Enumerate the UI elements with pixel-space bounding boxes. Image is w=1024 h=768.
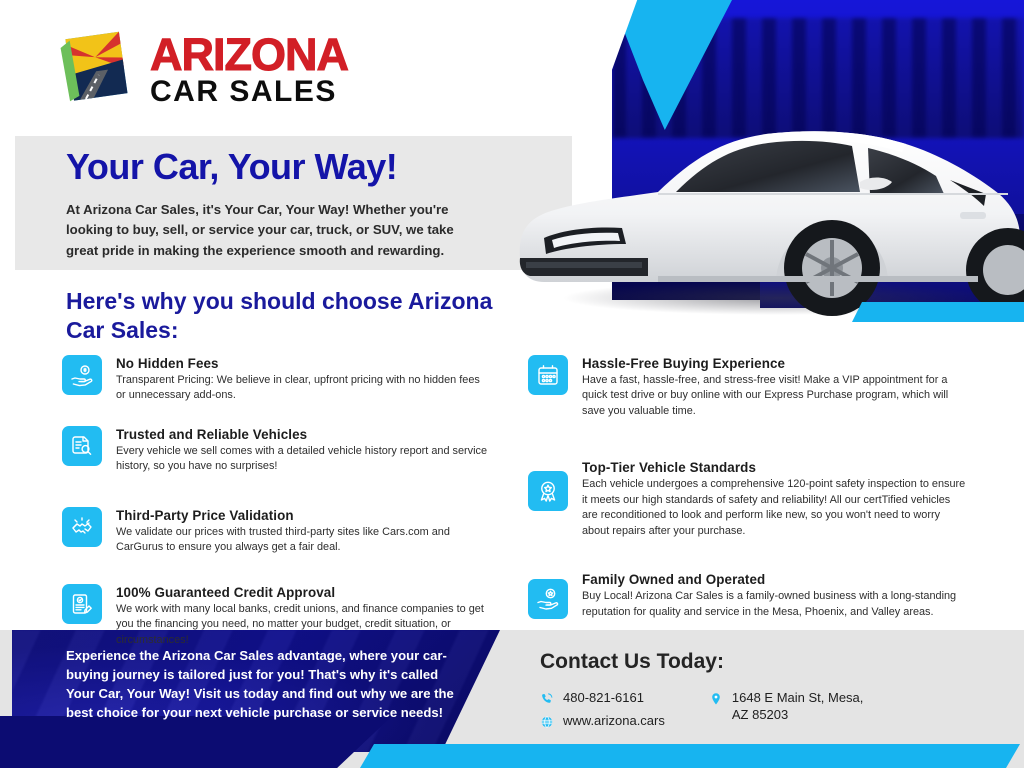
bottom-navy-bar bbox=[0, 716, 392, 768]
feature-body: Family Owned and Operated Buy Local! Ari… bbox=[582, 571, 968, 620]
page-title: Your Car, Your Way! bbox=[66, 146, 397, 188]
feature-item: Family Owned and Operated Buy Local! Ari… bbox=[528, 571, 968, 620]
logo-arizona-text: ARIZONA bbox=[150, 33, 348, 76]
logo-wordmark: ARIZONA CAR SALES bbox=[150, 33, 348, 107]
location-pin-icon bbox=[709, 691, 723, 707]
arizona-state-photo-icon bbox=[56, 27, 140, 113]
address-line-1: 1648 E Main St, Mesa, bbox=[732, 690, 864, 705]
contact-column-primary: 480-821-6161 www.arizona.cars bbox=[540, 690, 665, 730]
feature-description: Every vehicle we sell comes with a detai… bbox=[116, 444, 492, 475]
feature-item: Third-Party Price Validation We validate… bbox=[62, 507, 492, 556]
features-right-column: Hassle-Free Buying Experience Have a fas… bbox=[528, 355, 968, 638]
section-heading: Here's why you should choose Arizona Car… bbox=[66, 287, 506, 345]
feature-title: Top-Tier Vehicle Standards bbox=[582, 460, 968, 475]
feature-description: Buy Local! Arizona Car Sales is a family… bbox=[582, 589, 968, 620]
handshake-icon bbox=[62, 507, 102, 547]
feature-body: No Hidden Fees Transparent Pricing: We b… bbox=[116, 355, 492, 404]
website-url: www.arizona.cars bbox=[563, 713, 665, 730]
flyer-canvas: ARIZONA CAR SALES Your Car, Your Way! At… bbox=[0, 0, 1024, 768]
contact-heading: Contact Us Today: bbox=[540, 650, 1000, 674]
feature-title: No Hidden Fees bbox=[116, 356, 492, 371]
hand-holding-badge-icon bbox=[528, 579, 568, 619]
cta-text: Experience the Arizona Car Sales advanta… bbox=[66, 646, 466, 722]
feature-item: Hassle-Free Buying Experience Have a fas… bbox=[528, 355, 968, 419]
hero-subtext: At Arizona Car Sales, it's Your Car, You… bbox=[66, 200, 486, 261]
feature-description: Have a fast, hassle-free, and stress-fre… bbox=[582, 373, 968, 419]
document-magnifier-icon bbox=[62, 426, 102, 466]
contact-column-address: 1648 E Main St, Mesa, AZ 85203 bbox=[709, 690, 864, 730]
feature-description: Transparent Pricing: We believe in clear… bbox=[116, 373, 492, 404]
logo-carsales-text: CAR SALES bbox=[150, 78, 348, 107]
feature-title: Hassle-Free Buying Experience bbox=[582, 356, 968, 371]
feature-title: 100% Guaranteed Credit Approval bbox=[116, 585, 492, 600]
feature-description: Each vehicle undergoes a comprehensive 1… bbox=[582, 477, 968, 539]
calendar-icon bbox=[528, 355, 568, 395]
feature-item: Trusted and Reliable Vehicles Every vehi… bbox=[62, 426, 492, 475]
feature-description: We validate our prices with trusted thir… bbox=[116, 525, 492, 556]
award-badge-icon bbox=[528, 471, 568, 511]
features-left-column: No Hidden Fees Transparent Pricing: We b… bbox=[62, 355, 492, 666]
contact-section: Contact Us Today: 480-821-6161 bbox=[540, 650, 1000, 730]
feature-item: No Hidden Fees Transparent Pricing: We b… bbox=[62, 355, 492, 404]
feature-body: Hassle-Free Buying Experience Have a fas… bbox=[582, 355, 968, 419]
globe-icon bbox=[540, 714, 554, 730]
address-row[interactable]: 1648 E Main St, Mesa, AZ 85203 bbox=[709, 690, 864, 723]
website-row[interactable]: www.arizona.cars bbox=[540, 713, 665, 730]
phone-number: 480-821-6161 bbox=[563, 690, 644, 707]
car-photo bbox=[508, 62, 1024, 320]
feature-body: Trusted and Reliable Vehicles Every vehi… bbox=[116, 426, 492, 475]
phone-row[interactable]: 480-821-6161 bbox=[540, 690, 665, 707]
feature-body: Third-Party Price Validation We validate… bbox=[116, 507, 492, 556]
feature-title: Family Owned and Operated bbox=[582, 572, 968, 587]
brand-logo[interactable]: ARIZONA CAR SALES bbox=[56, 22, 376, 118]
feature-item: Top-Tier Vehicle Standards Each vehicle … bbox=[528, 459, 968, 539]
feature-body: Top-Tier Vehicle Standards Each vehicle … bbox=[582, 459, 968, 539]
feature-body: 100% Guaranteed Credit Approval We work … bbox=[116, 584, 492, 648]
bottom-cyan-bar bbox=[360, 744, 1020, 768]
credit-approval-document-icon bbox=[62, 584, 102, 624]
hand-holding-coin-icon bbox=[62, 355, 102, 395]
phone-icon bbox=[540, 691, 554, 707]
contact-details: 480-821-6161 www.arizona.cars bbox=[540, 690, 1000, 730]
address-text: 1648 E Main St, Mesa, AZ 85203 bbox=[732, 690, 864, 723]
feature-title: Trusted and Reliable Vehicles bbox=[116, 427, 492, 442]
feature-description: We work with many local banks, credit un… bbox=[116, 602, 492, 648]
feature-title: Third-Party Price Validation bbox=[116, 508, 492, 523]
address-line-2: AZ 85203 bbox=[732, 707, 788, 722]
cyan-accent-band bbox=[852, 302, 1024, 322]
feature-item: 100% Guaranteed Credit Approval We work … bbox=[62, 584, 492, 648]
